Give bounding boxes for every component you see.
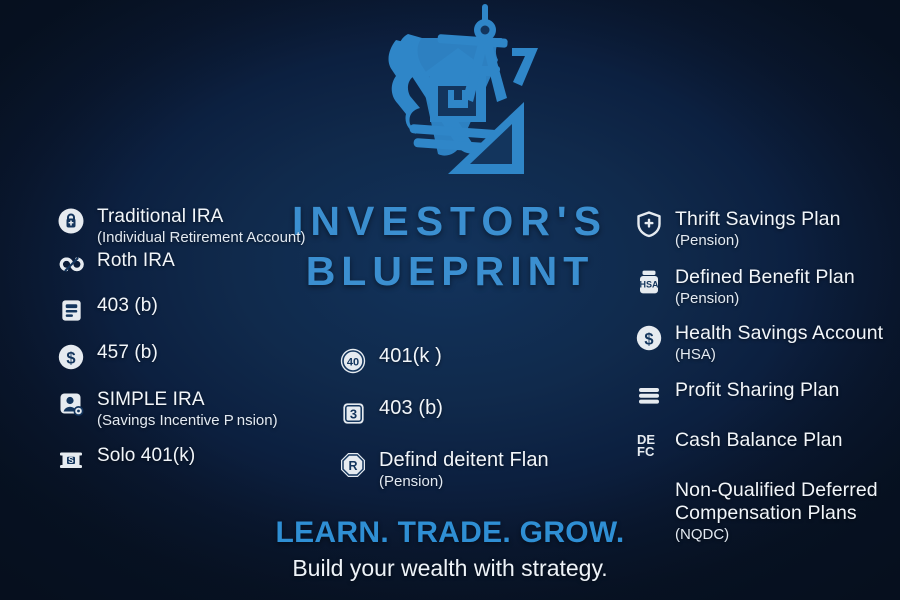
svg-text:R: R xyxy=(348,459,357,473)
square-3-icon: 3 xyxy=(338,398,368,428)
list-item-label: Cash Balance Plan xyxy=(675,429,900,452)
plans-column-left: Traditional IRA (Individual Retirement A… xyxy=(56,205,326,479)
lock-coin-circle-icon xyxy=(56,206,86,236)
list-item-label: Roth IRA xyxy=(97,249,326,272)
bars-stack-icon xyxy=(634,380,664,410)
no-icon-placeholder xyxy=(634,480,664,510)
list-item: 40 401(k ) xyxy=(338,345,588,376)
hsa-jar-icon: HSA xyxy=(634,267,664,297)
svg-text:40: 40 xyxy=(347,357,359,369)
list-item: SIMPLE IRA (Savings Incentive P nsion) xyxy=(56,388,326,430)
plans-column-right: Thrift Savings Plan (Pension) HSA Define… xyxy=(634,208,900,548)
list-item-label: Defined Benefit Plan xyxy=(675,266,900,289)
svg-text:HSA: HSA xyxy=(639,279,659,289)
list-item: R Defind deitent Flan (Pension) xyxy=(338,449,588,491)
list-item-sub: (Pension) xyxy=(675,231,900,250)
person-gear-icon xyxy=(56,389,86,419)
list-item: Thrift Savings Plan (Pension) xyxy=(634,208,900,250)
list-item: S Solo 401(k) xyxy=(56,444,326,475)
list-item-sub: (Savings Incentive P nsion) xyxy=(97,411,326,430)
octagon-r-icon: R xyxy=(338,450,368,480)
tagline-block: LEARN. TRADE. GROW. Build your wealth wi… xyxy=(0,516,900,583)
svg-text:FC: FC xyxy=(637,444,655,459)
infinity-swirl-icon xyxy=(56,250,86,280)
shield-plus-icon xyxy=(634,209,664,239)
list-item: Roth IRA xyxy=(56,249,326,280)
investor-blueprint-poster: INVESTOR'S BLUEPRINT Traditional IRA (In… xyxy=(0,0,900,600)
banknote-s-icon: S xyxy=(56,445,86,475)
circle-40-icon: 40 xyxy=(338,346,368,376)
list-item: 3 403 (b) xyxy=(338,397,588,428)
document-lines-icon xyxy=(56,295,86,325)
list-item: DE FC Cash Balance Plan xyxy=(634,429,900,460)
list-item-label: Solo 401(k) xyxy=(97,444,326,467)
list-item-label: Health Savings Account xyxy=(675,322,900,345)
list-item-sub: (Individual Retirement Account) xyxy=(97,228,326,247)
list-item-sub: (Pension) xyxy=(379,472,588,491)
plans-column-center: 40 401(k ) 3 403 (b) xyxy=(338,345,588,512)
list-item-label: Traditional IRA xyxy=(97,205,326,228)
blueprint-house-compass-ruler-icon xyxy=(352,4,548,182)
list-item-label: 457 (b) xyxy=(97,341,326,364)
list-item: Profit Sharing Plan xyxy=(634,379,900,410)
tagline-primary: LEARN. TRADE. GROW. xyxy=(0,516,900,550)
defc-text-icon: DE FC xyxy=(634,430,664,460)
list-item-sub: (HSA) xyxy=(675,345,900,364)
list-item-label: Thrift Savings Plan xyxy=(675,208,900,231)
list-item-label: SIMPLE IRA xyxy=(97,388,326,411)
tagline-secondary: Build your wealth with strategy. xyxy=(0,553,900,583)
list-item-label: Defind deitent Flan xyxy=(379,449,588,472)
svg-text:$: $ xyxy=(644,330,653,348)
list-item: 403 (b) xyxy=(56,294,326,325)
dollar-coin-icon: $ xyxy=(634,323,664,353)
svg-text:3: 3 xyxy=(349,406,356,421)
list-item-label: 403 (b) xyxy=(97,294,326,317)
list-item-label: 401(k ) xyxy=(379,345,588,368)
dollar-coin-icon: $ xyxy=(56,342,86,372)
list-item: Traditional IRA (Individual Retirement A… xyxy=(56,205,326,247)
list-item: HSA Defined Benefit Plan (Pension) xyxy=(634,266,900,308)
svg-text:S: S xyxy=(68,455,74,465)
list-item: $ 457 (b) xyxy=(56,341,326,372)
list-item-label: Profit Sharing Plan xyxy=(675,379,900,402)
list-item: $ Health Savings Account (HSA) xyxy=(634,322,900,364)
svg-text:$: $ xyxy=(66,349,75,367)
list-item-sub: (Pension) xyxy=(675,289,900,308)
list-item-label: 403 (b) xyxy=(379,397,588,420)
